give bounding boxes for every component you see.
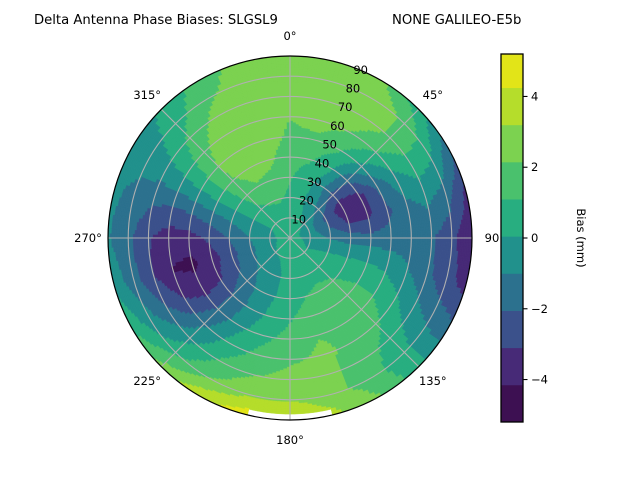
figure-canvas: Delta Antenna Phase Biases: SLGSL9 NONE …	[0, 0, 640, 480]
page-subtitle: NONE GALILEO-E5b	[392, 13, 521, 28]
page-title: Delta Antenna Phase Biases: SLGSL9	[34, 13, 278, 28]
